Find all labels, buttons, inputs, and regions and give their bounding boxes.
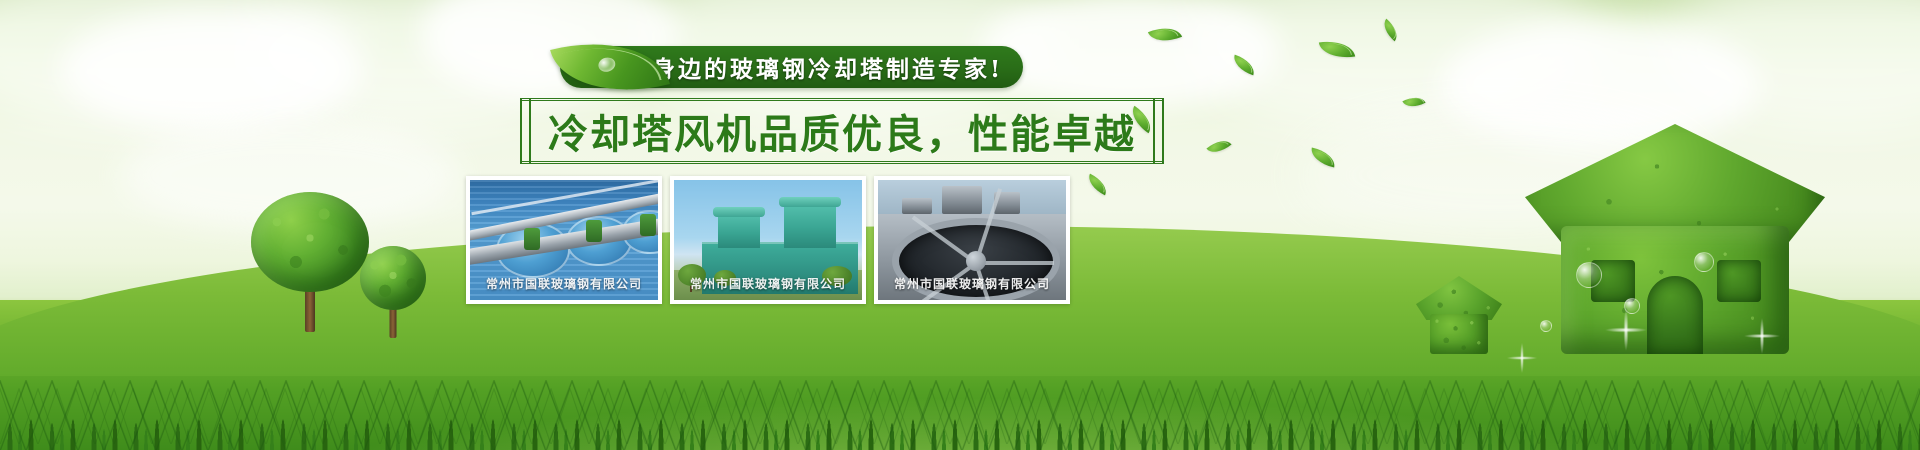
floating-leaf-icon (1148, 21, 1182, 48)
grass-house-window-right (1717, 260, 1761, 302)
fan-vane (976, 261, 1054, 265)
grass-blades-back (0, 388, 1920, 444)
grass-house-roof (1525, 124, 1825, 242)
tree-crown (360, 246, 426, 310)
slogan-text: 您身边的玻璃钢冷却塔制造专家! (626, 50, 1003, 84)
sparkle-decoration (1736, 310, 1788, 362)
slogan-pill: 您身边的玻璃钢冷却塔制造专家! (560, 46, 1023, 88)
mini-house-body (1430, 314, 1488, 354)
fan-hub (966, 251, 986, 271)
sparkle-decoration (1500, 336, 1544, 380)
bubble-decoration (1540, 320, 1552, 332)
bubble-decoration (1576, 262, 1602, 288)
cooling-tower (784, 204, 836, 248)
equipment-box (942, 186, 982, 214)
bubble-decoration (1694, 252, 1714, 272)
cooling-tower-row-photo[interactable]: 常州市国联玻璃钢有限公司 (466, 176, 662, 304)
cooling-tower (718, 214, 760, 248)
tree-crown (251, 192, 369, 292)
small-tree (360, 242, 426, 338)
headline-text: 冷却塔风机品质优良，性能卓越 (534, 102, 1150, 160)
photo-strip: 常州市国联玻璃钢有限公司 常州市国联玻璃钢有限公司 (466, 176, 1070, 304)
headline-box: 冷却塔风机品质优良，性能卓越 (520, 98, 1164, 164)
fan-motor (586, 220, 602, 242)
fan-motor (640, 214, 656, 236)
photo-watermark: 常州市国联玻璃钢有限公司 (878, 275, 1066, 292)
twin-tower-building-photo[interactable]: 常州市国联玻璃钢有限公司 (670, 176, 866, 304)
floating-leaf-icon (1084, 174, 1110, 196)
floating-leaf-icon (1230, 55, 1257, 76)
photo-watermark: 常州市国联玻璃钢有限公司 (674, 275, 862, 292)
equipment-box (902, 198, 932, 214)
floating-leaf-icon (1319, 38, 1355, 62)
promo-banner: 您身边的玻璃钢冷却塔制造专家! 冷却塔风机品质优良，性能卓越 常州市国联玻璃钢有… (0, 0, 1920, 450)
fan-deck-photo[interactable]: 常州市国联玻璃钢有限公司 (874, 176, 1070, 304)
sparkle-decoration (1596, 300, 1656, 360)
floating-leaf-icon (1309, 147, 1338, 167)
floating-leaf-icon (1206, 134, 1231, 158)
water-drop-icon (597, 56, 617, 74)
mini-grass-house-decoration (1416, 278, 1502, 354)
floating-leaf-icon (1379, 19, 1403, 42)
fan-motor (524, 228, 540, 250)
photo-watermark: 常州市国联玻璃钢有限公司 (470, 275, 658, 292)
floating-leaf-icon (1402, 92, 1425, 112)
large-tree (250, 192, 370, 332)
